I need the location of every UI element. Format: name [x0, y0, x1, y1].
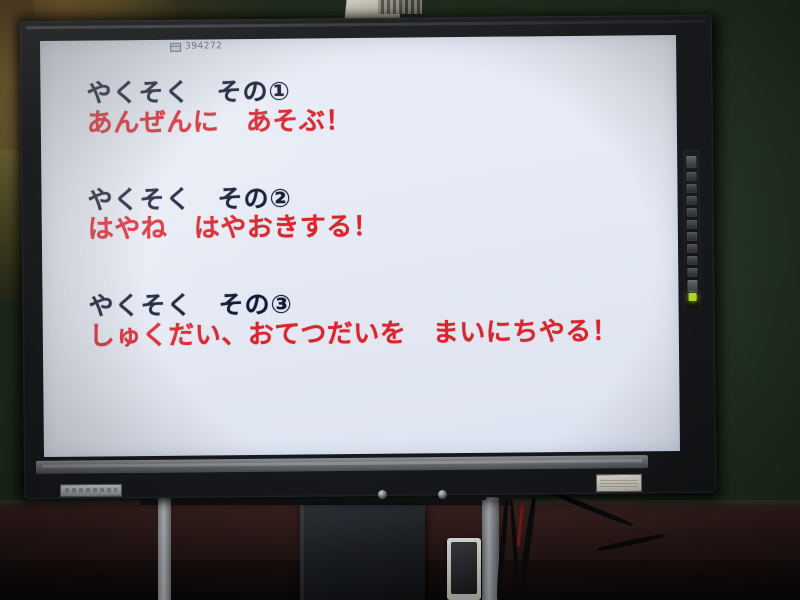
- promise-item-2: やくそく その② はやね はやおきする！: [63, 180, 656, 246]
- status-sensor: [438, 490, 447, 499]
- ir-sensor: [378, 490, 387, 499]
- control-button-8[interactable]: [687, 256, 697, 265]
- slide-content: 394272 やくそく その① あんぜんに あそぶ！ やくそく その② はやね …: [40, 35, 680, 457]
- promise-body-2: はやね はやおきする！: [64, 209, 656, 246]
- control-button-power[interactable]: [686, 156, 696, 168]
- control-button-7[interactable]: [687, 244, 697, 253]
- control-button-1[interactable]: [686, 172, 696, 181]
- control-button-2[interactable]: [687, 184, 697, 193]
- model-plate-text: [65, 488, 117, 492]
- control-tablet[interactable]: [447, 538, 481, 600]
- document-tag: 394272: [170, 41, 222, 52]
- control-button-4[interactable]: [687, 208, 697, 217]
- bezel-highlight: [26, 20, 706, 30]
- control-button-5[interactable]: [687, 220, 697, 229]
- control-button-6[interactable]: [687, 232, 697, 241]
- display-screen[interactable]: 394272 やくそく その① あんぜんに あそぶ！ やくそく その② はやね …: [40, 35, 680, 457]
- pc-tower: [300, 505, 425, 600]
- promise-item-3: やくそく その③ しゅくだい、おてつだいを まいにちやる！: [64, 287, 657, 353]
- asset-sticker: [596, 474, 642, 492]
- promise-item-1: やくそく その① あんぜんに あそぶ！: [62, 73, 655, 139]
- control-button-3[interactable]: [687, 196, 697, 205]
- asset-sticker-text: [600, 478, 638, 487]
- pen-tray-groove: [42, 459, 642, 468]
- control-button-menu[interactable]: [687, 280, 697, 292]
- document-icon: [170, 42, 181, 51]
- screenshot-root: 394272 やくそく その① あんぜんに あそぶ！ やくそく その② はやね …: [0, 0, 800, 600]
- promise-body-3: しゅくだい、おてつだいを まいにちやる！: [65, 316, 657, 353]
- stand-leg-left: [158, 497, 171, 600]
- wall-vent: [378, 0, 422, 14]
- power-led-indicator: [689, 293, 697, 301]
- document-number: 394272: [185, 41, 222, 51]
- promise-body-1: あんぜんに あそぶ！: [63, 103, 655, 140]
- control-tablet-screen: [451, 542, 477, 594]
- control-button-9[interactable]: [687, 268, 697, 277]
- control-panel[interactable]: [683, 150, 701, 310]
- model-plate: [60, 484, 122, 498]
